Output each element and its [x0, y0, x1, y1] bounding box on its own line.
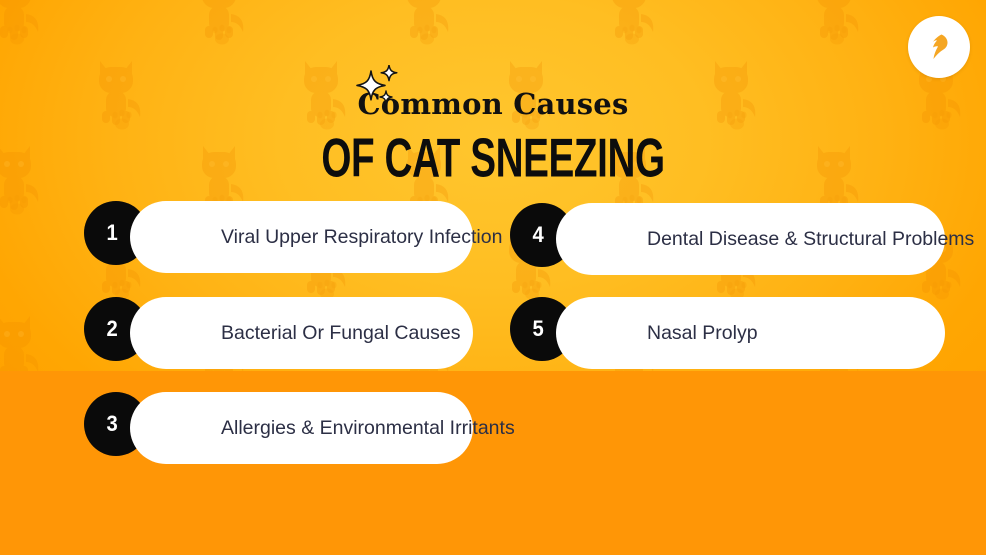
cause-label: Nasal Prolyp [556, 322, 784, 344]
cause-number: 3 [106, 413, 117, 435]
cause-number: 5 [532, 318, 543, 340]
cause-pill: Bacterial Or Fungal Causes [130, 297, 473, 369]
cause-pill: Dental Disease & Structural Problems [556, 203, 945, 275]
cause-label: Dental Disease & Structural Problems [556, 228, 986, 250]
cause-number: 1 [106, 222, 117, 244]
cause-pill: Allergies & Environmental Irritants [130, 392, 473, 464]
causes-list: Viral Upper Respiratory Infection 1 Bact… [0, 0, 986, 555]
cause-label: Bacterial Or Fungal Causes [130, 322, 487, 344]
cause-pill: Viral Upper Respiratory Infection [130, 201, 473, 273]
infographic-canvas: Common Causes OF CAT SNEEZING Viral Uppe… [0, 0, 986, 555]
cause-number: 4 [532, 224, 543, 246]
cause-pill: Nasal Prolyp [556, 297, 945, 369]
cause-number: 2 [106, 318, 117, 340]
cause-label: Viral Upper Respiratory Infection [130, 226, 528, 248]
cause-label: Allergies & Environmental Irritants [130, 417, 541, 439]
